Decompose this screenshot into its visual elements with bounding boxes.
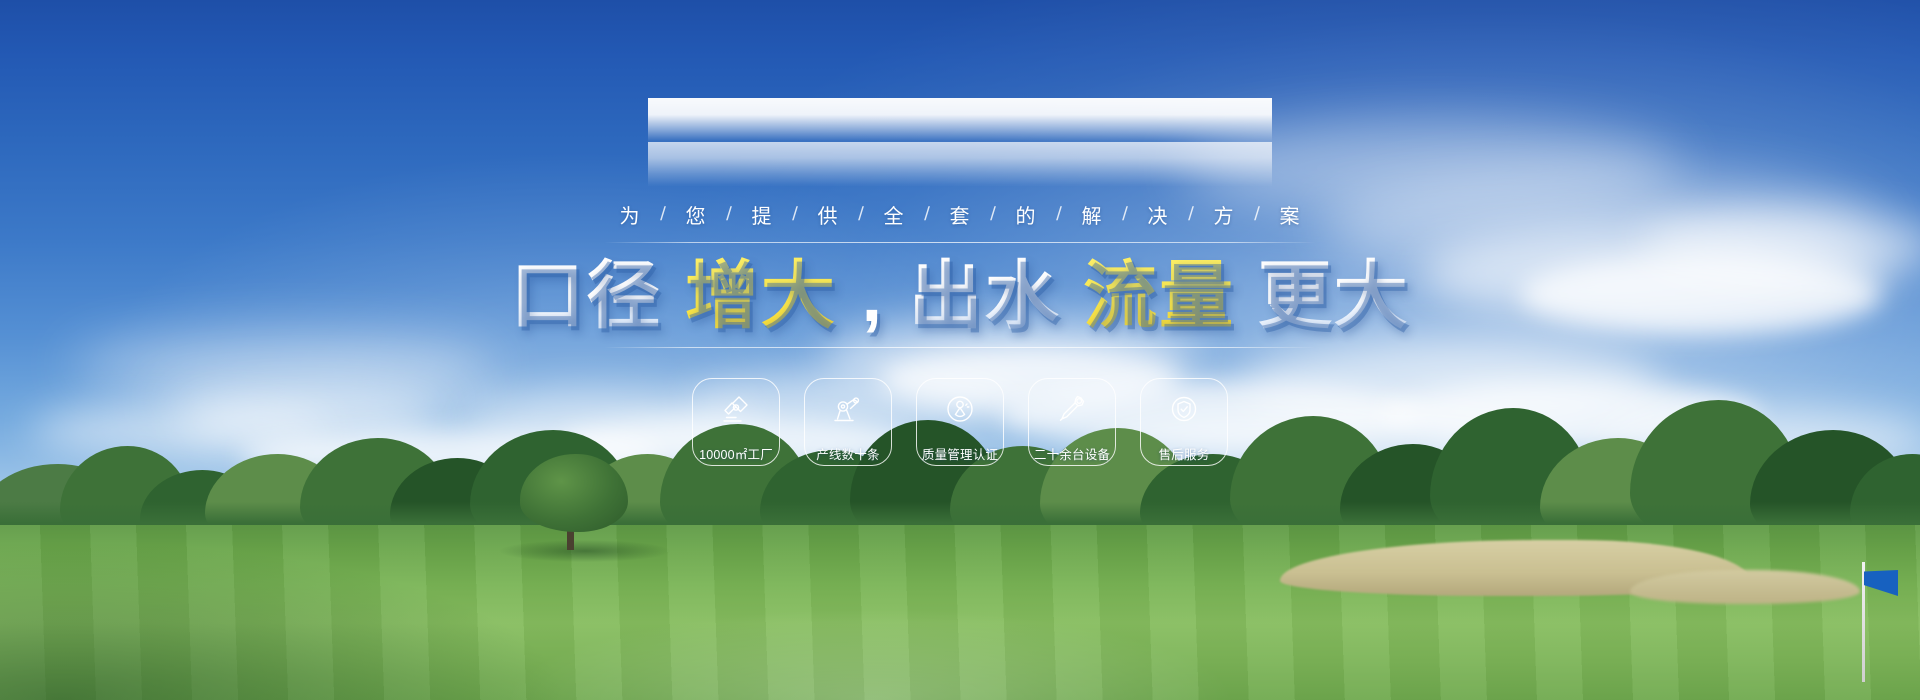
subtitle-row: 为 / 您 / 提 / 供 / 全 / 套 / 的 / 解 / 决 / 方 / …: [609, 200, 1311, 229]
badge-after-sales-service[interactable]: 售后服务: [1140, 378, 1228, 466]
headline-segment-liu-liang: 流量: [1083, 257, 1235, 335]
subtitle-separator: /: [849, 204, 874, 226]
banner-content: INTEGRATED SEWAGE TREATMENT 为 / 您 / 提 / …: [0, 0, 1920, 700]
badge-label: 二十余台设备: [1034, 444, 1110, 463]
subtitle-char: 案: [1269, 200, 1311, 229]
divider-bottom: [604, 347, 1316, 348]
english-line-2: SEWAGE TREATMENT: [648, 142, 1271, 187]
conveyor-icon: [831, 392, 865, 426]
headline-segment-comma: ,: [859, 257, 886, 335]
wrench-gear-icon: [1055, 392, 1089, 426]
subtitle-separator: /: [1245, 204, 1270, 226]
subtitle-separator: /: [1047, 204, 1072, 226]
headline-segment-kou-jing: 口径: [510, 257, 662, 335]
badge-production-lines[interactable]: 产线数十条: [804, 378, 892, 466]
headline-segment-geng-da: 更大: [1258, 257, 1410, 335]
badge-quality-certification[interactable]: 质量管理认证: [916, 378, 1004, 466]
main-headline: 口径 增大 , 出水 流量 更大: [510, 257, 1409, 335]
headline-segment-zeng-da: 增大: [685, 257, 837, 335]
subtitle-char: 全: [873, 200, 915, 229]
shield-check-icon: [1167, 392, 1201, 426]
badge-label: 产线数十条: [816, 444, 880, 463]
subtitle-char: 为: [609, 200, 651, 229]
microscope-icon: [719, 392, 753, 426]
subtitle-separator: /: [915, 204, 940, 226]
subtitle-char: 决: [1137, 200, 1179, 229]
english-headline: INTEGRATED SEWAGE TREATMENT: [648, 98, 1271, 186]
subtitle-separator: /: [717, 204, 742, 226]
subtitle-separator: /: [783, 204, 808, 226]
divider-top: [604, 242, 1316, 243]
badge-label: 10000㎡工厂: [699, 444, 773, 463]
certified-person-icon: [943, 392, 977, 426]
badge-label: 售后服务: [1159, 444, 1210, 463]
subtitle-char: 供: [807, 200, 849, 229]
badge-factory[interactable]: 10000㎡工厂: [692, 378, 780, 466]
badge-equipment-count[interactable]: 二十余台设备: [1028, 378, 1116, 466]
subtitle-separator: /: [1179, 204, 1204, 226]
subtitle-char: 方: [1203, 200, 1245, 229]
subtitle-char: 提: [741, 200, 783, 229]
hero-banner: INTEGRATED SEWAGE TREATMENT 为 / 您 / 提 / …: [0, 0, 1920, 700]
subtitle-separator: /: [981, 204, 1006, 226]
subtitle-char: 套: [939, 200, 981, 229]
subtitle-char: 您: [675, 200, 717, 229]
subtitle-char: 的: [1005, 200, 1047, 229]
feature-badges: 10000㎡工厂 产线数十条: [692, 378, 1228, 466]
subtitle-separator: /: [1113, 204, 1138, 226]
badge-label: 质量管理认证: [922, 444, 998, 463]
headline-segment-chu-shui: 出水: [909, 257, 1061, 335]
subtitle-char: 解: [1071, 200, 1113, 229]
english-line-1: INTEGRATED: [648, 98, 1271, 142]
subtitle-separator: /: [651, 204, 676, 226]
